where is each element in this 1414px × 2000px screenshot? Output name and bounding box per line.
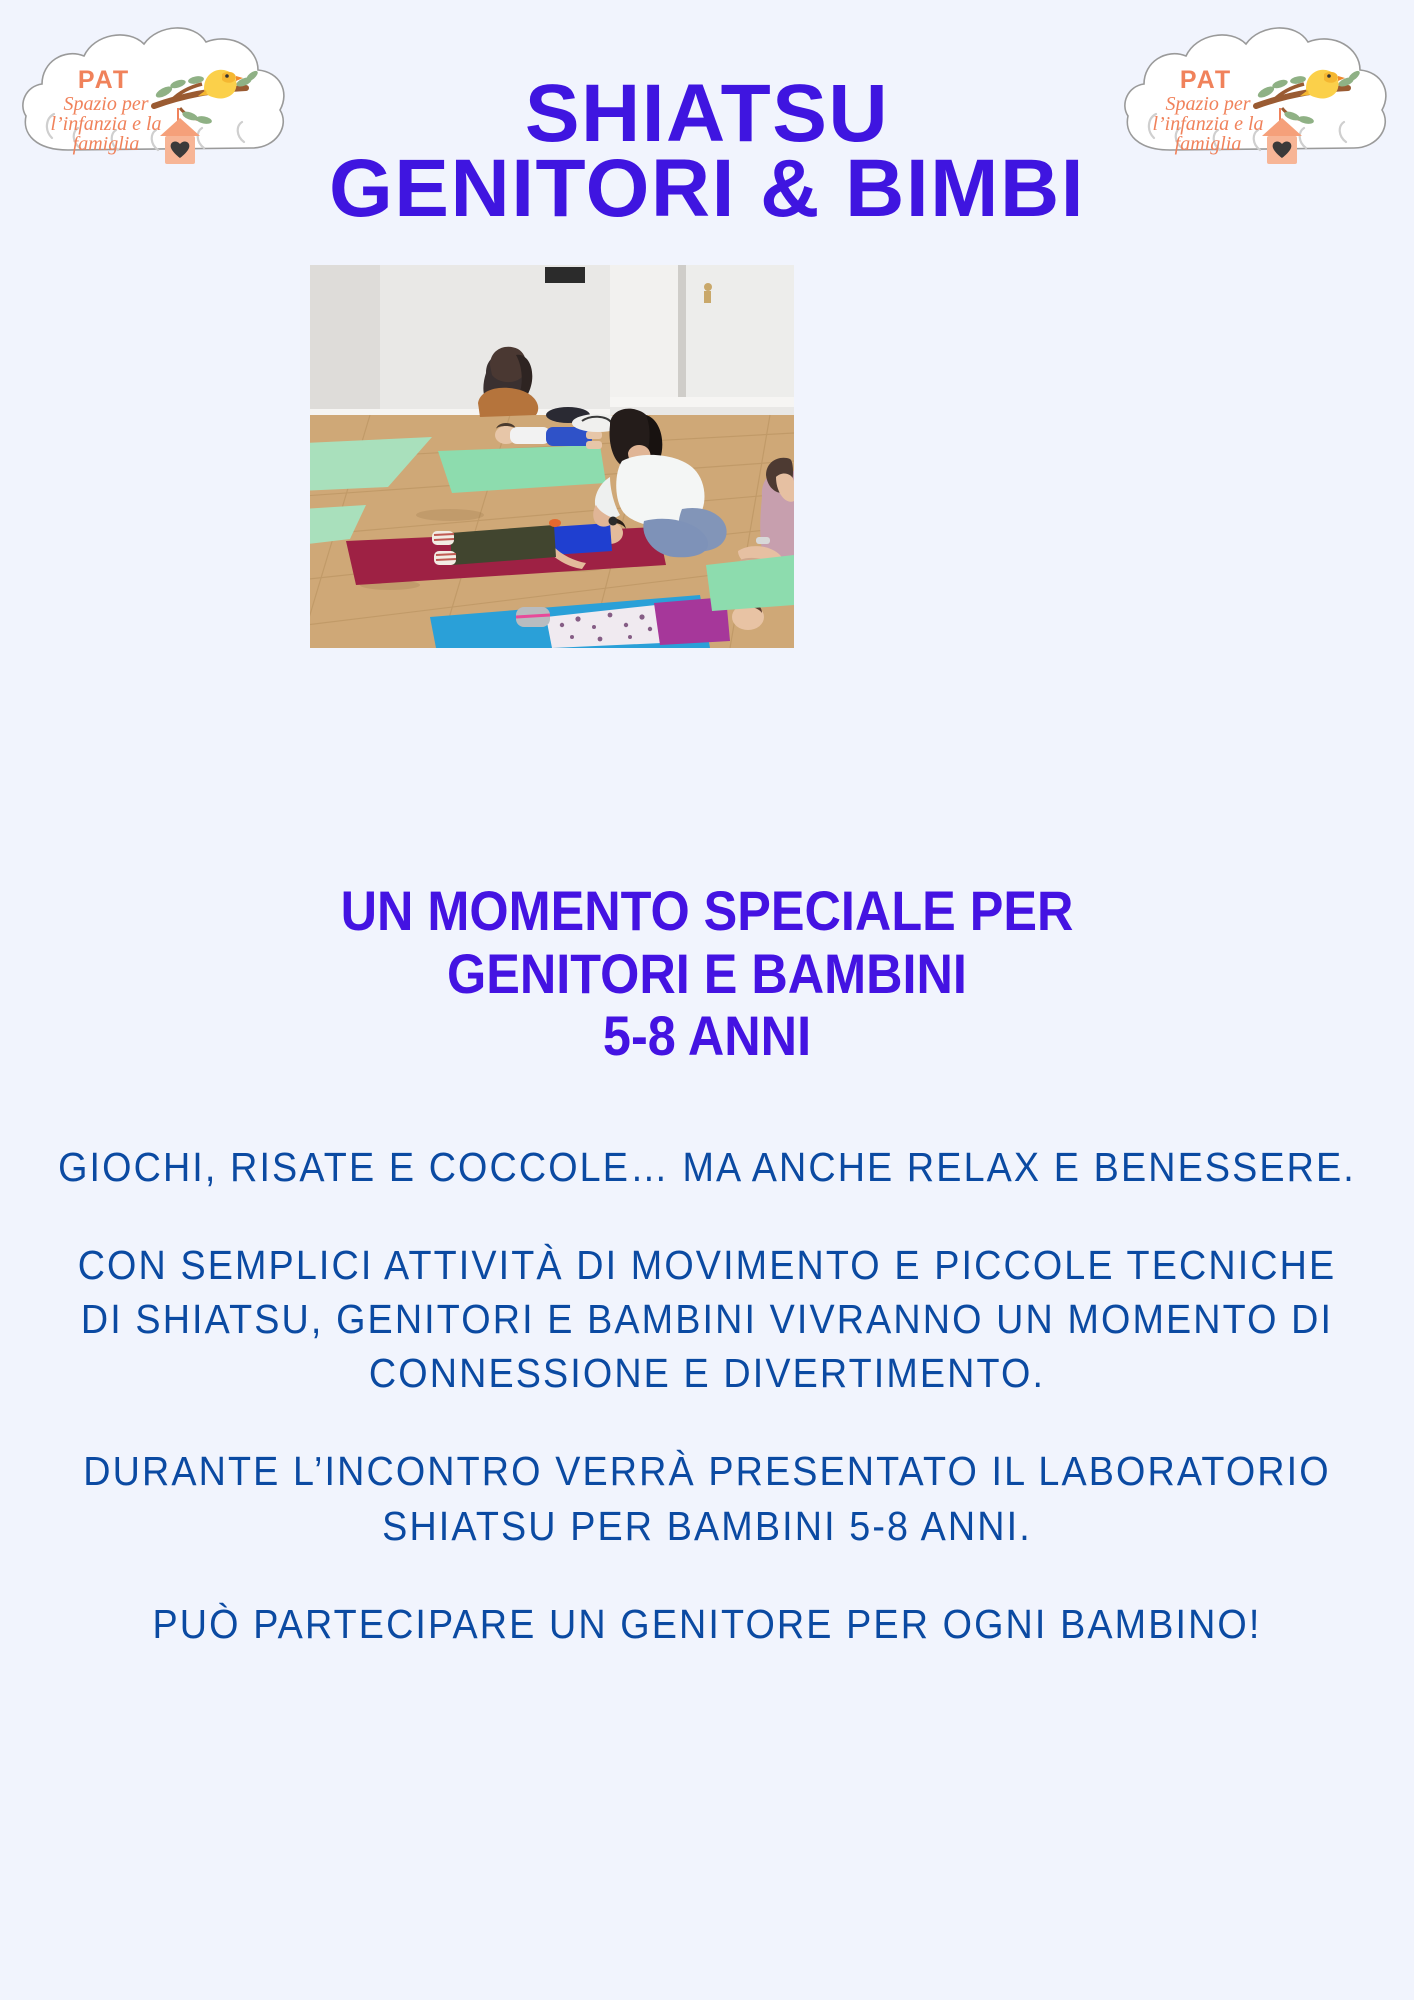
- body-paragraph-1: GIOCHI, RISATE E COCCOLE… MA ANCHE RELAX…: [57, 1140, 1358, 1194]
- body-paragraph-3: DURANTE L’INCONTRO VERRÀ PRESENTATO IL L…: [57, 1444, 1358, 1552]
- title-line-1: SHIATSU: [0, 76, 1414, 151]
- photo-illustration: [310, 265, 794, 648]
- body-paragraph-4: PUÒ PARTECIPARE UN GENITORE PER OGNI BAM…: [57, 1597, 1358, 1651]
- body-paragraph-2: CON SEMPLICI ATTIVITÀ DI MOVIMENTO E PIC…: [57, 1238, 1358, 1400]
- title-line-2: GENITORI & BIMBI: [0, 151, 1414, 226]
- poster-title: SHIATSU GENITORI & BIMBI: [0, 76, 1414, 227]
- poster-body: GIOCHI, RISATE E COCCOLE… MA ANCHE RELAX…: [0, 1140, 1414, 1695]
- subhead-line-3: 5-8 ANNI: [71, 1005, 1344, 1068]
- poster-subhead: UN MOMENTO SPECIALE PER GENITORI E BAMBI…: [71, 880, 1344, 1068]
- shiatsu-class-photo: [310, 265, 794, 648]
- subhead-line-1: UN MOMENTO SPECIALE PER: [71, 880, 1344, 943]
- subhead-line-2: GENITORI E BAMBINI: [71, 943, 1344, 1006]
